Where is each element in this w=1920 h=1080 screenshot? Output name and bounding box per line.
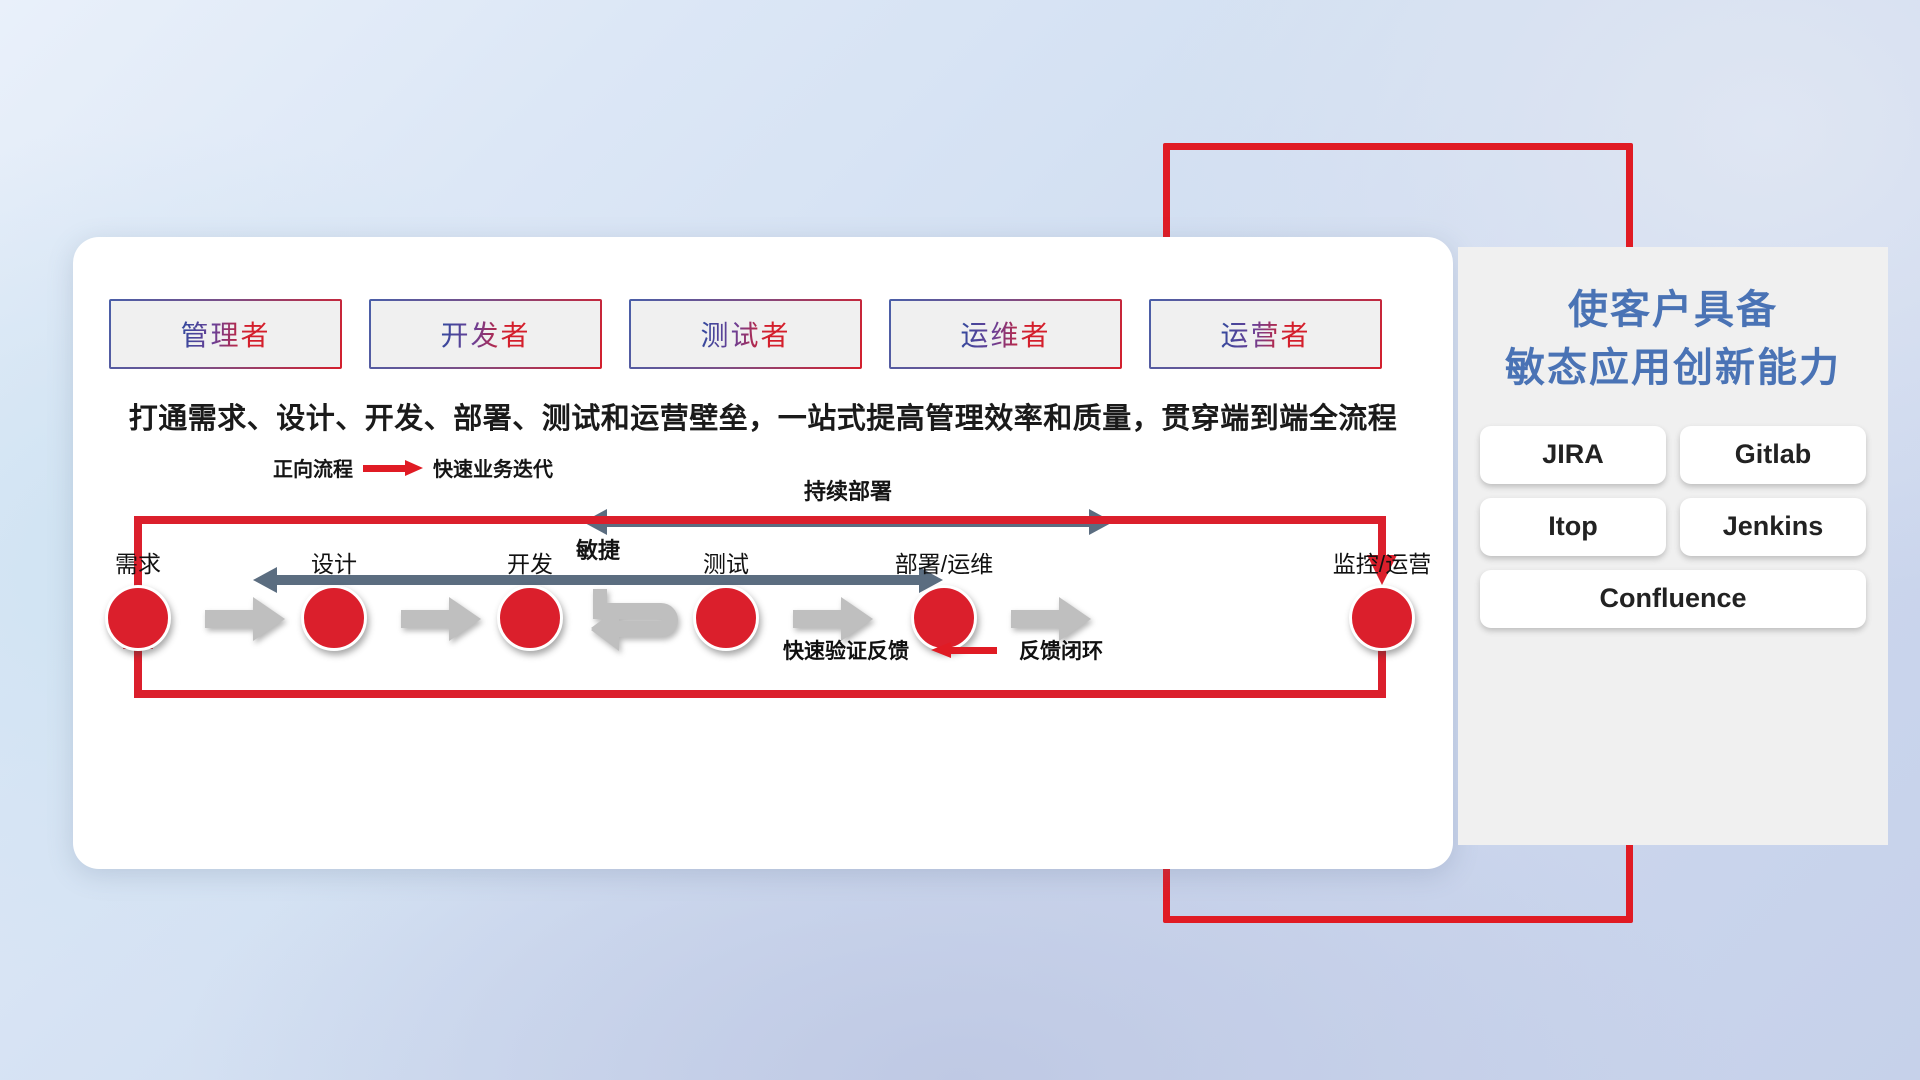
tool-button-confluence[interactable]: Confluence [1480, 570, 1866, 628]
pipeline-node-testing[interactable]: 测试 [693, 585, 759, 651]
tool-button-itop[interactable]: Itop [1480, 498, 1666, 556]
panel-heading-line1: 使客户具备 [1458, 281, 1888, 339]
devops-pipeline: 需求 设计 开发 测试 部署/运维 [73, 237, 1453, 869]
tool-button-jira[interactable]: JIRA [1480, 426, 1666, 484]
red-left-arrow-icon [931, 642, 997, 658]
fast-validation-label: 快速验证反馈 [783, 635, 909, 665]
feedback-loop-legend: 快速验证反馈 反馈闭环 [783, 635, 1103, 665]
pipeline-node-label: 需求 [115, 545, 161, 579]
feedback-closed-loop-label: 反馈闭环 [1019, 635, 1103, 665]
pipeline-node-design[interactable]: 设计 [301, 585, 367, 651]
stage-dot-icon [497, 585, 563, 651]
gray-arrow-icon [401, 597, 481, 641]
pipeline-node-label: 监控/运营 [1333, 545, 1431, 579]
stage-dot-icon [301, 585, 367, 651]
pipeline-node-development[interactable]: 开发 [497, 585, 563, 651]
tool-buttons-grid: JIRA Gitlab Itop Jenkins Confluence [1458, 426, 1888, 628]
pipeline-node-requirements[interactable]: 需求 [105, 585, 171, 651]
tool-button-gitlab[interactable]: Gitlab [1680, 426, 1866, 484]
pipeline-node-label: 部署/运维 [895, 545, 993, 579]
gray-arrow-icon [205, 597, 285, 641]
stage-dot-icon [105, 585, 171, 651]
panel-heading-line2: 敏态应用创新能力 [1458, 339, 1888, 397]
tools-panel: 使客户具备 敏态应用创新能力 JIRA Gitlab Itop Jenkins … [1458, 247, 1888, 845]
pipeline-node-monitor-ops[interactable]: 监控/运营 [1349, 585, 1415, 651]
main-diagram-card: 管理者 开发者 测试者 运维者 运营者 打通需求、设计、开发、部署、测试和运营壁… [73, 237, 1453, 869]
stage-dot-icon [693, 585, 759, 651]
pipeline-node-label: 设计 [311, 545, 357, 579]
pipeline-node-label: 测试 [703, 545, 749, 579]
panel-heading: 使客户具备 敏态应用创新能力 [1458, 281, 1888, 398]
iteration-loop-arrow-icon [589, 585, 695, 655]
pipeline-node-label: 开发 [507, 545, 553, 579]
tool-button-jenkins[interactable]: Jenkins [1680, 498, 1866, 556]
stage-dot-icon [1349, 585, 1415, 651]
